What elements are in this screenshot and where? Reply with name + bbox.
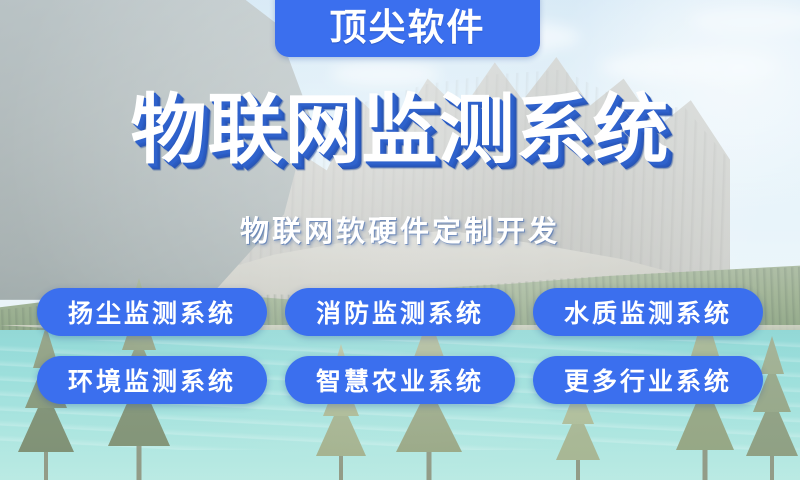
category-pill-list: 扬尘监测系统 消防监测系统 水质监测系统 环境监测系统 智慧农业系统 更多行业系… bbox=[36, 288, 764, 404]
subtitle: 物联网软硬件定制开发 bbox=[0, 208, 800, 250]
pill-more-industries[interactable]: 更多行业系统 bbox=[533, 356, 763, 404]
brand-badge-label: 顶尖软件 bbox=[330, 5, 486, 46]
page-title: 物联网监测系统 bbox=[0, 92, 800, 168]
pill-water-quality-monitoring[interactable]: 水质监测系统 bbox=[533, 288, 763, 336]
pill-fire-monitoring[interactable]: 消防监测系统 bbox=[285, 288, 515, 336]
pill-dust-monitoring[interactable]: 扬尘监测系统 bbox=[37, 288, 267, 336]
pill-smart-agriculture[interactable]: 智慧农业系统 bbox=[285, 356, 515, 404]
banner-content: 顶尖软件 物联网监测系统 物联网软硬件定制开发 扬尘监测系统 消防监测系统 水质… bbox=[0, 0, 800, 480]
brand-badge[interactable]: 顶尖软件 bbox=[275, 0, 540, 57]
pill-environment-monitoring[interactable]: 环境监测系统 bbox=[37, 356, 267, 404]
promo-banner: 顶尖软件 物联网监测系统 物联网软硬件定制开发 扬尘监测系统 消防监测系统 水质… bbox=[0, 0, 800, 480]
